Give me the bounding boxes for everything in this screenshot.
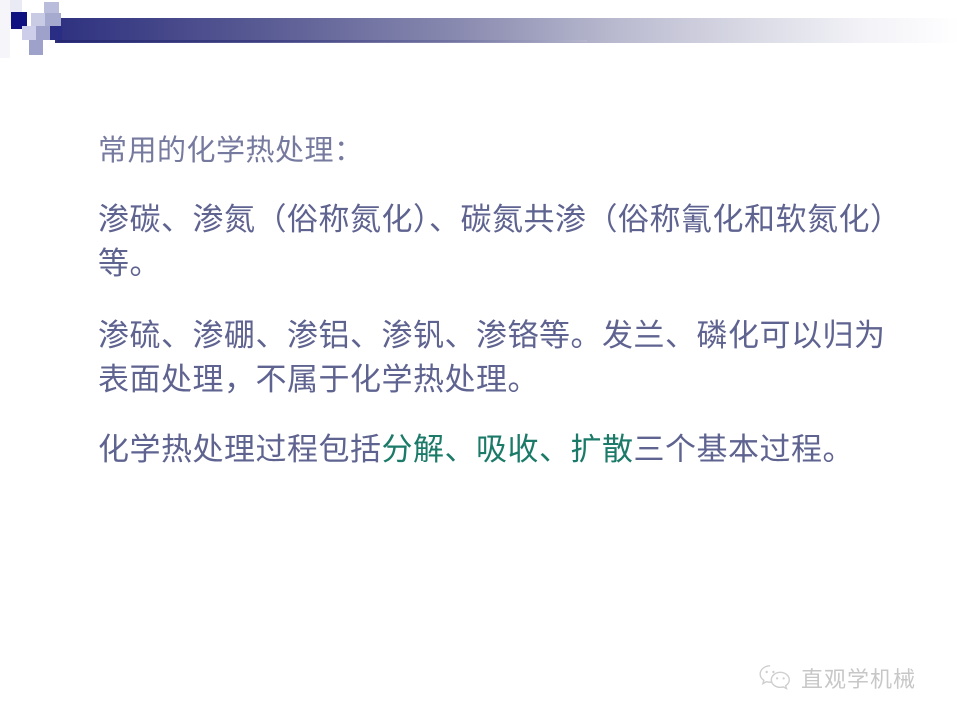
paragraph-p3: 渗硫、渗硼、渗铝、渗钒、渗铬等。发兰、磷化可以归为表面处理，不属于化学热处理。 <box>98 314 888 402</box>
mosaic-square <box>8 0 22 12</box>
paragraph-lead: 常用的化学热处理： <box>98 128 888 172</box>
text-run: 三个基本过程。 <box>634 432 855 468</box>
mosaic-square <box>0 0 10 58</box>
text-run: 渗碳、渗氮（俗称氮化）、碳氮共渗（俗称氰化和软氮化）等。 <box>98 202 886 282</box>
paragraph-p4: 化学热处理过程包括分解、吸收、扩散三个基本过程。 <box>98 428 888 472</box>
highlighted-term: 分解、吸收、扩散 <box>382 432 634 468</box>
header-underline-rule <box>57 40 587 42</box>
paragraph-p2: 渗碳、渗氮（俗称氮化）、碳氮共渗（俗称氰化和软氮化）等。 <box>98 198 888 286</box>
slide-body-text: 常用的化学热处理：渗碳、渗氮（俗称氮化）、碳氮共渗（俗称氰化和软氮化）等。渗硫、… <box>98 128 888 494</box>
wechat-icon <box>757 663 793 693</box>
text-run: 化学热处理过程包括 <box>98 432 382 468</box>
mosaic-square <box>22 0 36 12</box>
watermark-label: 直观学机械 <box>801 662 916 694</box>
mosaic-squares-decoration <box>0 0 80 60</box>
text-run: 渗硫、渗硼、渗铝、渗钒、渗铬等。发兰、磷化可以归为表面处理，不属于化学热处理。 <box>98 318 886 398</box>
watermark: 直观学机械 <box>757 662 916 694</box>
mosaic-square <box>29 40 43 55</box>
mosaic-square <box>50 26 62 40</box>
mosaic-square <box>22 26 36 40</box>
mosaic-square <box>36 26 50 40</box>
slide-canvas: 常用的化学热处理：渗碳、渗氮（俗称氮化）、碳氮共渗（俗称氰化和软氮化）等。渗硫、… <box>0 0 960 720</box>
text-run: 常用的化学热处理： <box>98 133 364 167</box>
